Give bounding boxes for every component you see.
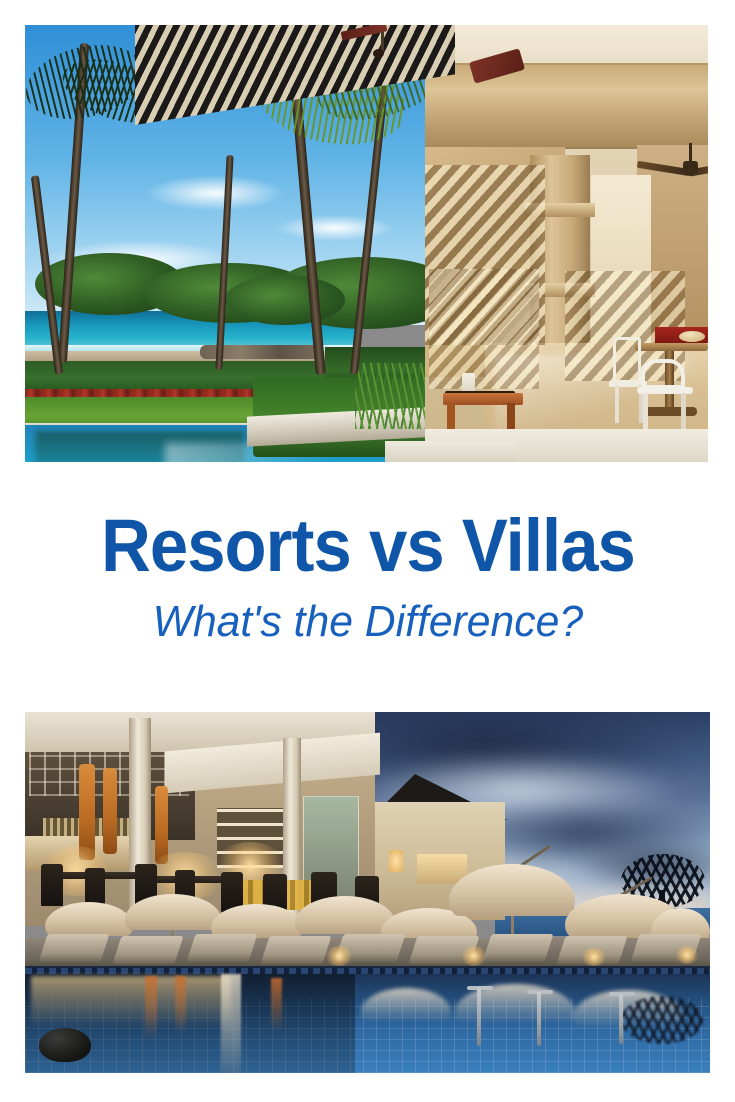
dining-chair-leg bbox=[681, 393, 686, 433]
sun-lounger bbox=[38, 934, 109, 962]
column-reflection bbox=[221, 974, 241, 1073]
lit-window bbox=[389, 850, 403, 872]
dining-chair-leg bbox=[643, 393, 648, 433]
dining-table-top bbox=[635, 343, 708, 351]
foreground-ledge bbox=[385, 441, 515, 462]
pendant-lamp bbox=[155, 786, 168, 864]
ceiling-fan-hub bbox=[373, 49, 384, 58]
louvre-shadow-stripes bbox=[429, 269, 539, 389]
pendant-reflection bbox=[175, 976, 186, 1034]
shade-tree-canopy bbox=[225, 275, 345, 325]
decorative-rock bbox=[39, 1028, 91, 1062]
pool-rail-post bbox=[477, 988, 481, 1046]
page-title: Resorts vs Villas bbox=[101, 506, 635, 586]
palm-reflection bbox=[621, 996, 703, 1044]
deck-lamp-glow bbox=[325, 946, 353, 966]
pavilion-reflection bbox=[31, 976, 231, 1028]
sun-lounger bbox=[112, 936, 183, 964]
sun-lounger bbox=[260, 936, 331, 964]
pendant-reflection bbox=[145, 976, 157, 1040]
ceiling-fan-hub bbox=[683, 161, 698, 173]
deck-lamp-glow bbox=[581, 948, 607, 966]
pendant-lamp bbox=[103, 768, 117, 854]
page-subtitle: What's the Difference? bbox=[152, 596, 582, 648]
sun-lounger bbox=[186, 934, 257, 962]
pool-rail-post bbox=[619, 994, 623, 1044]
pool-rail-post bbox=[537, 992, 541, 1046]
dining-chair-back bbox=[613, 337, 641, 383]
stone-lintel-band bbox=[425, 63, 708, 149]
cloud-wisp bbox=[145, 175, 285, 211]
pinterest-pin-card: Resorts vs Villas What's the Difference? bbox=[0, 0, 735, 1102]
cloud-wisp bbox=[275, 215, 395, 241]
dining-chair-back bbox=[641, 359, 685, 389]
title-block: Resorts vs Villas What's the Difference? bbox=[0, 478, 735, 688]
patio-chair bbox=[41, 864, 63, 906]
pendant-reflection bbox=[271, 978, 282, 1032]
deck-lamp-glow bbox=[461, 946, 487, 966]
villa-terrace-photo bbox=[25, 25, 708, 462]
dining-chair-leg bbox=[615, 385, 619, 423]
deck-lamp-glow bbox=[675, 946, 699, 964]
dining-table-base bbox=[645, 407, 697, 416]
fruit-bowl bbox=[679, 331, 705, 342]
sun-lounger bbox=[482, 934, 553, 962]
resort-pool-photo bbox=[25, 712, 710, 1073]
